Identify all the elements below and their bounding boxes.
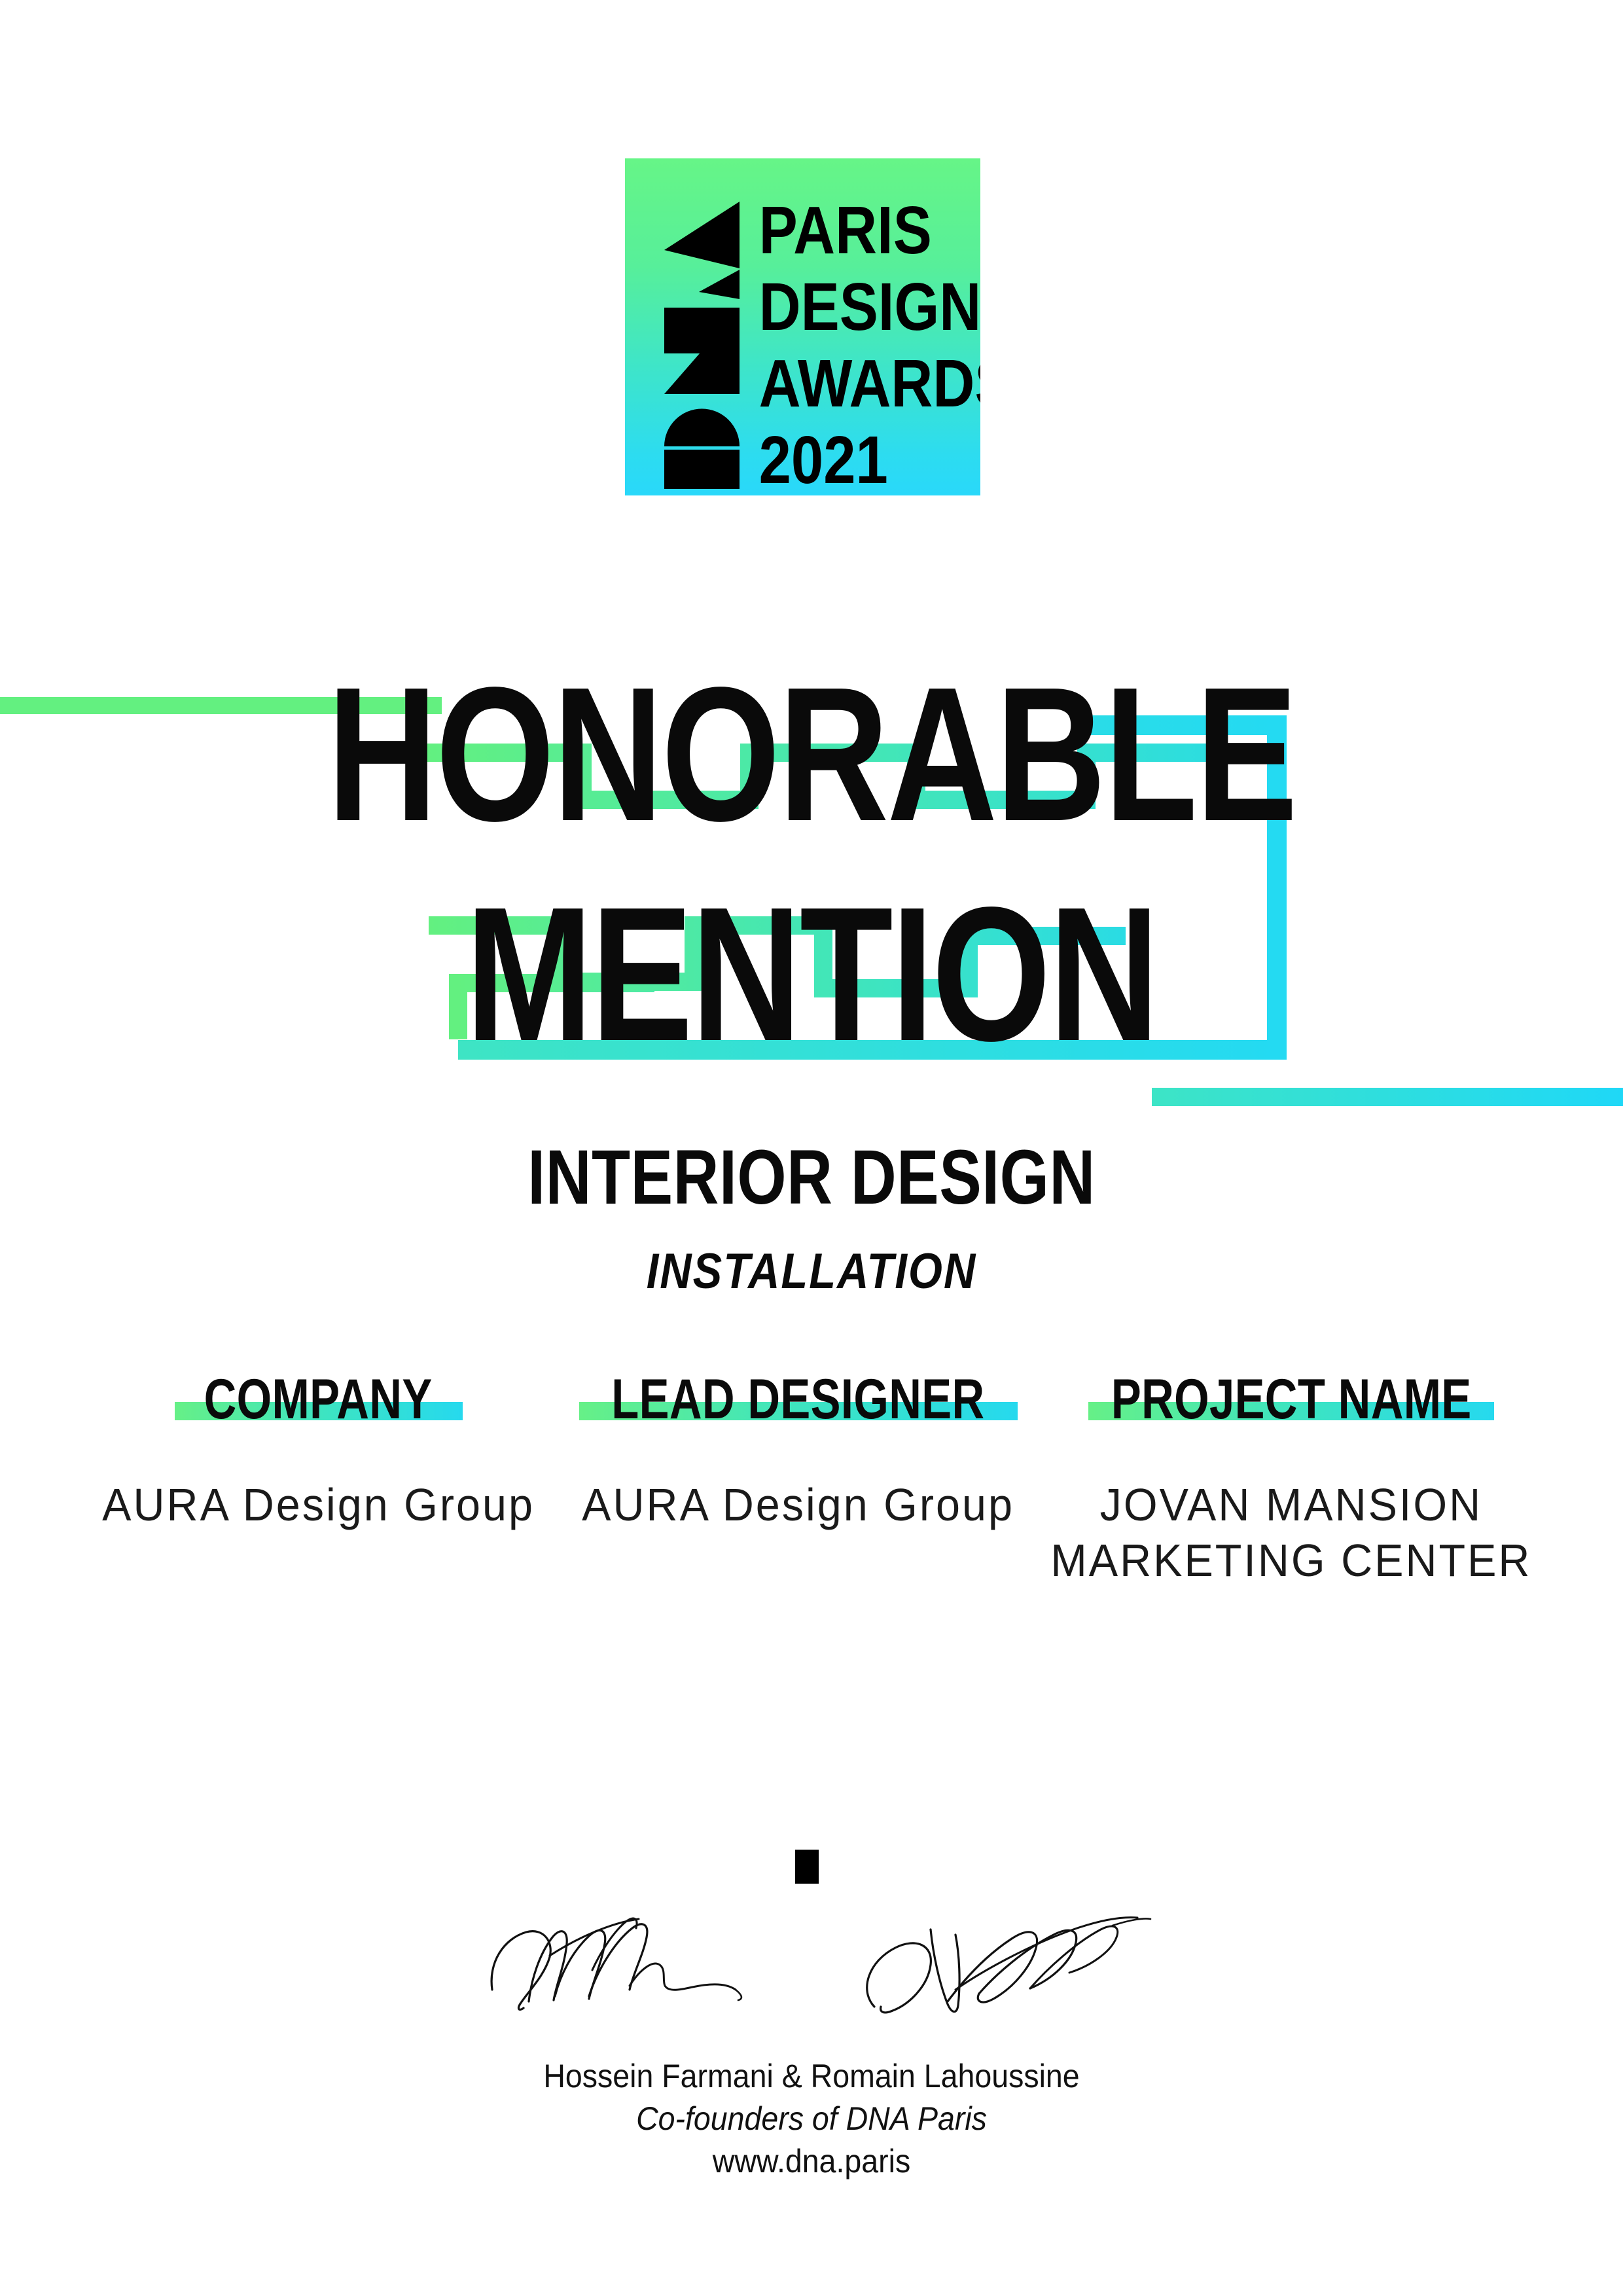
footer-signatory-names: Hossein Farmani & Romain Lahoussine	[57, 2055, 1566, 2098]
credit-value-line: AURA Design Group	[90, 1477, 546, 1533]
credit-value-line: AURA Design Group	[570, 1477, 1026, 1533]
signatures-artwork	[458, 1892, 1178, 2062]
credit-value-line: JOVAN MANSION	[1051, 1477, 1532, 1533]
signature-hossein-farmani	[491, 1918, 741, 2009]
footer-credits: Hossein Farmani & Romain Lahoussine Co-f…	[0, 2055, 1623, 2183]
award-category: INTERIOR DESIGN	[146, 1139, 1477, 1216]
logo-line-design: DESIGN	[759, 270, 980, 345]
credit-header-project-name: PROJECT NAME	[1038, 1371, 1544, 1443]
credit-header-lead-designer: LEAD DESIGNER	[558, 1371, 1038, 1443]
credit-header-company: COMPANY	[79, 1371, 558, 1443]
credit-value-company: AURA Design Group	[90, 1477, 546, 1533]
award-subcategory: INSTALLATION	[98, 1247, 1525, 1297]
credit-value-lead-designer: AURA Design Group	[570, 1477, 1026, 1533]
logo-wordmark: PARIS DESIGN AWARDS 2021	[759, 193, 980, 495]
logo-line-year: 2021	[759, 423, 888, 495]
award-title-line-1: HONORABLE	[162, 658, 1461, 850]
logo-line-awards: AWARDS	[759, 346, 980, 422]
credit-value-project-name: JOVAN MANSION MARKETING CENTER	[1051, 1477, 1532, 1589]
award-title-line-2: MENTION	[162, 878, 1461, 1069]
signatures-block	[458, 1892, 1178, 2062]
credit-column-lead-designer: LEAD DESIGNER AURA Design Group	[558, 1371, 1038, 1533]
logo-line-paris: PARIS	[759, 193, 932, 268]
credit-label-project-name: PROJECT NAME	[1111, 1371, 1472, 1427]
credit-column-project-name: PROJECT NAME JOVAN MANSION MARKETING CEN…	[1038, 1371, 1544, 1589]
credit-value-line: MARKETING CENTER	[1051, 1533, 1532, 1588]
award-title: HONORABLE MENTION	[0, 648, 1623, 1106]
credit-label-lead-designer: LEAD DESIGNER	[612, 1371, 985, 1427]
credit-label-company: COMPANY	[204, 1371, 433, 1427]
logo-artwork: PARIS DESIGN AWARDS 2021	[625, 158, 980, 495]
footer-website: www.dna.paris	[57, 2140, 1566, 2183]
certificate-page: PARIS DESIGN AWARDS 2021	[0, 0, 1623, 2296]
dna-paris-design-awards-logo: PARIS DESIGN AWARDS 2021	[625, 158, 980, 495]
square-divider-mark	[795, 1850, 819, 1884]
credits-row: COMPANY AURA Design Group LEAD DESIGNER …	[79, 1371, 1544, 1589]
credit-column-company: COMPANY AURA Design Group	[79, 1371, 558, 1533]
footer-signatory-role: Co-founders of DNA Paris	[57, 2098, 1566, 2140]
signature-romain-lahoussine	[867, 1918, 1150, 2013]
dna-monogram-icon	[664, 202, 740, 489]
